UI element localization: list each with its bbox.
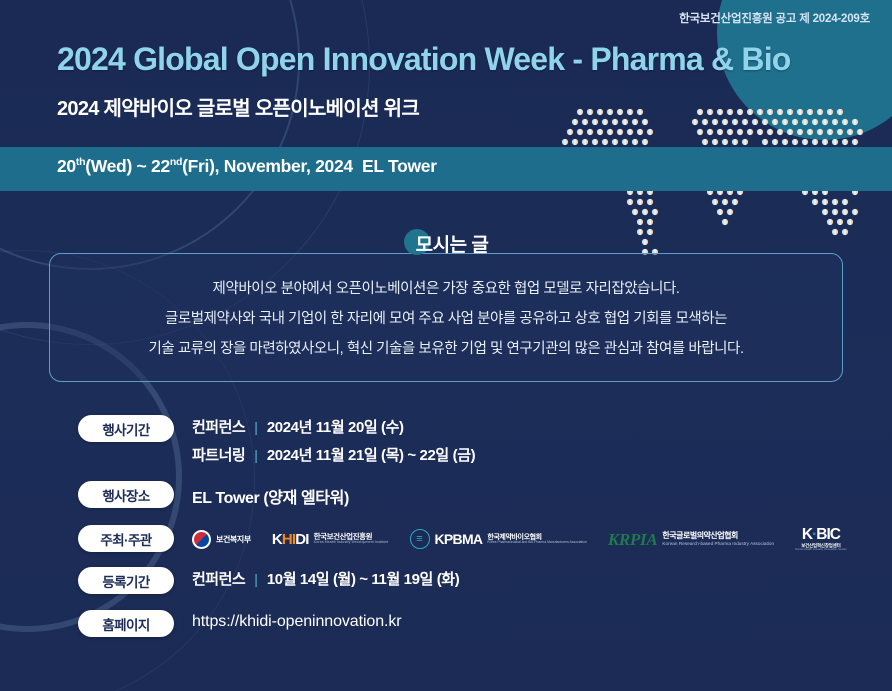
date-month-year: November, 2024 bbox=[219, 156, 353, 176]
khidi-wordmark: KHIDI bbox=[272, 532, 309, 547]
period-partnering-key: 파트너링 bbox=[192, 444, 245, 465]
kpbma-wordmark: KPBMA bbox=[435, 532, 483, 546]
kpbma-emblem-icon: ≡ bbox=[410, 529, 430, 549]
event-date-venue-line: 20th(Wed) ~ 22nd(Fri), November, 2024 EL… bbox=[57, 156, 437, 177]
date-end-dow: (Fri), bbox=[182, 156, 219, 176]
krpia-name-ko: 한국글로벌의약산업협회 bbox=[662, 532, 774, 541]
info-row-homepage: 홈페이지 https://khidi-openinnovation.kr bbox=[78, 610, 878, 637]
registration-conference-key: 컨퍼런스 bbox=[192, 568, 245, 589]
taegeuk-icon bbox=[192, 530, 211, 549]
date-start-ordinal: th bbox=[76, 156, 85, 168]
khidi-mark-di: DI bbox=[295, 531, 308, 548]
logo-kpbma: ≡ KPBMA 한국제약바이오협회 Korea Pharmaceutical a… bbox=[410, 529, 587, 549]
info-row-organizer: 주최·주관 보건복지부 KHIDI 한국보건산업진흥원 Korea Health… bbox=[78, 525, 878, 552]
date-end-day: 22 bbox=[151, 156, 170, 176]
notice-number: 한국보건산업진흥원 공고 제 2024-209호 bbox=[679, 10, 870, 26]
info-row-registration: 등록기간 컨퍼런스 | 10월 14일 (월) ~ 11월 19일 (화) bbox=[78, 567, 878, 594]
krpia-name-en: Korean Research-based Pharma Industry As… bbox=[662, 541, 774, 546]
registration-values: 컨퍼런스 | 10월 14일 (월) ~ 11월 19일 (화) bbox=[192, 567, 459, 589]
khidi-subtext: 한국보건산업진흥원 Korea Health Industry Developm… bbox=[314, 533, 389, 545]
khidi-name-en: Korea Health Industry Development Instit… bbox=[314, 541, 389, 545]
place-values: EL Tower (양재 엘타워) bbox=[192, 481, 349, 508]
invitation-line-2: 글로벌제약사와 국내 기업이 한 자리에 모여 주요 사업 분야를 공유하고 상… bbox=[165, 307, 727, 328]
krpia-subtext: 한국글로벌의약산업협회 Korean Research-based Pharma… bbox=[662, 532, 774, 546]
period-partnering-value: 2024년 11월 21일 (목) ~ 22일 (금) bbox=[267, 444, 475, 465]
logo-krpia: KRPIA 한국글로벌의약산업협회 Korean Research-based … bbox=[608, 531, 774, 548]
date-start-day: 20 bbox=[57, 156, 76, 176]
registration-conference-line: 컨퍼런스 | 10월 14일 (월) ~ 11월 19일 (화) bbox=[192, 568, 459, 589]
period-conference-separator: | bbox=[254, 419, 258, 435]
invitation-line-3: 기술 교류의 장을 마련하였사오니, 혁신 기술을 보유한 기업 및 연구기관의… bbox=[148, 337, 743, 358]
logo-mohw-label: 보건복지부 bbox=[216, 534, 251, 545]
homepage-values: https://khidi-openinnovation.kr bbox=[192, 610, 401, 631]
label-pill-homepage: 홈페이지 bbox=[78, 610, 174, 637]
place-value: EL Tower (양재 엘타워) bbox=[192, 482, 349, 508]
logo-kbic: K·BIC 보건산업혁신창업센터 Korea Health Industry I… bbox=[795, 527, 847, 551]
period-conference-line: 컨퍼런스 | 2024년 11월 20일 (수) bbox=[192, 416, 475, 437]
kbic-mark-bic: BIC bbox=[816, 526, 840, 543]
kbic-name-en: Korea Health Industry Innovation Center bbox=[795, 548, 847, 551]
invitation-heading: 모시는 글 bbox=[0, 230, 892, 264]
organizer-logo-list: 보건복지부 KHIDI 한국보건산업진흥원 Korea Health Indus… bbox=[192, 525, 847, 551]
page-title-korean: 2024 제약바이오 글로벌 오픈이노베이션 위크 bbox=[57, 92, 419, 121]
registration-conference-separator: | bbox=[254, 571, 258, 587]
info-row-period: 행사기간 컨퍼런스 | 2024년 11월 20일 (수) 파트너링 | 202… bbox=[78, 415, 878, 465]
date-start-dow: (Wed) bbox=[85, 156, 132, 176]
date-range-tilde: ~ bbox=[132, 156, 151, 176]
label-pill-place: 행사장소 bbox=[78, 481, 174, 508]
kpbma-name-en: Korea Pharmaceutical and Bio-Pharma Manu… bbox=[487, 541, 587, 545]
registration-conference-value: 10월 14일 (월) ~ 11월 19일 (화) bbox=[267, 568, 459, 589]
period-partnering-separator: | bbox=[254, 447, 258, 463]
kbic-wordmark: K·BIC bbox=[802, 527, 840, 543]
period-partnering-line: 파트너링 | 2024년 11월 21일 (목) ~ 22일 (금) bbox=[192, 444, 475, 465]
label-pill-registration: 등록기간 bbox=[78, 567, 174, 594]
logo-khidi: KHIDI 한국보건산업진흥원 Korea Health Industry De… bbox=[272, 532, 389, 547]
page-title-english: 2024 Global Open Innovation Week - Pharm… bbox=[57, 41, 791, 78]
logo-mohw: 보건복지부 bbox=[192, 530, 251, 549]
period-conference-value: 2024년 11월 20일 (수) bbox=[267, 416, 404, 437]
label-pill-period: 행사기간 bbox=[78, 415, 174, 442]
homepage-url[interactable]: https://khidi-openinnovation.kr bbox=[192, 611, 401, 631]
invitation-heading-label: 모시는 글 bbox=[416, 230, 489, 257]
krpia-wordmark: KRPIA bbox=[608, 531, 658, 548]
period-values: 컨퍼런스 | 2024년 11월 20일 (수) 파트너링 | 2024년 11… bbox=[192, 415, 475, 465]
khidi-mark-hi: HI bbox=[282, 531, 295, 548]
label-pill-organizer: 주최·주관 bbox=[78, 525, 174, 552]
poster-canvas: 한국보건산업진흥원 공고 제 2024-209호 2024 Global Ope… bbox=[0, 0, 892, 691]
invitation-text: 제약바이오 분야에서 오픈이노베이션은 가장 중요한 협업 모델로 자리잡았습니… bbox=[49, 253, 843, 382]
kpbma-subtext: 한국제약바이오협회 Korea Pharmaceutical and Bio-P… bbox=[487, 534, 587, 545]
period-conference-key: 컨퍼런스 bbox=[192, 416, 245, 437]
date-band-venue: EL Tower bbox=[362, 156, 437, 176]
invitation-line-1: 제약바이오 분야에서 오픈이노베이션은 가장 중요한 협업 모델로 자리잡았습니… bbox=[213, 277, 680, 298]
kbic-mark-k: K bbox=[802, 526, 812, 543]
info-row-place: 행사장소 EL Tower (양재 엘타워) bbox=[78, 481, 878, 508]
khidi-mark-k: K bbox=[272, 531, 282, 548]
info-list: 행사기간 컨퍼런스 | 2024년 11월 20일 (수) 파트너링 | 202… bbox=[78, 415, 878, 653]
date-end-ordinal: nd bbox=[170, 156, 182, 168]
